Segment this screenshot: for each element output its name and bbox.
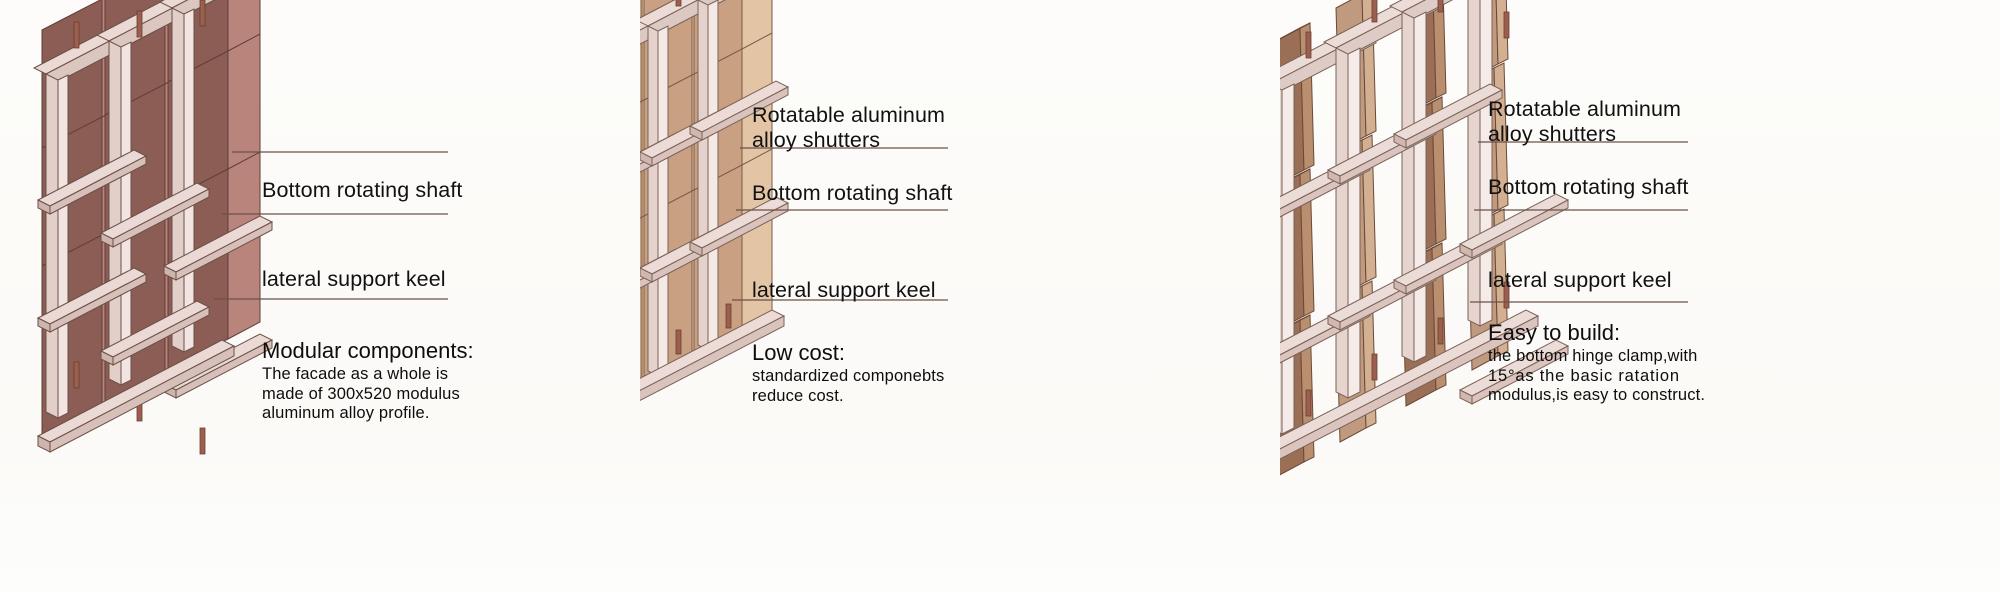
caption-line-3: aluminum alloy profile. — [262, 404, 474, 424]
callout-rotatable-aluminum-alloy-shutters: Rotatable aluminum alloy shutters — [752, 103, 945, 153]
callout-lateral-support-keel: lateral support keel — [262, 267, 446, 292]
facade-shutter-diagram: Bottom rotating shaft lateral support ke… — [0, 0, 2000, 592]
caption-line-3: modulus,is easy to construct. — [1488, 386, 1705, 406]
caption-line-1: the bottom hinge clamp,with — [1488, 347, 1705, 367]
panel-modular-components: Bottom rotating shaft lateral support ke… — [0, 0, 640, 592]
caption-title: Easy to build: — [1488, 320, 1705, 346]
caption-modular-components: Modular components: The facade as a whol… — [262, 338, 474, 424]
caption-line-2: 15°as the basic ratation — [1488, 367, 1705, 387]
callout-bottom-rotating-shaft: Bottom rotating shaft — [1488, 175, 1688, 200]
isometric-facade-closed-shutters — [0, 0, 640, 592]
caption-line-1: The facade as a whole is — [262, 365, 474, 385]
panel-low-cost: Rotatable aluminum alloy shutters Bottom… — [640, 0, 1280, 592]
caption-easy-to-build: Easy to build: the bottom hinge clamp,wi… — [1488, 320, 1705, 406]
isometric-facade-closed-shutters-tan — [640, 0, 1280, 592]
panel-easy-to-build: Rotatable aluminum alloy shutters Bottom… — [1280, 0, 2000, 592]
isometric-facade-rotated-shutters — [1280, 0, 2000, 592]
callout-rotatable-aluminum-alloy-shutters: Rotatable aluminum alloy shutters — [1488, 97, 1681, 147]
callout-lateral-support-keel: lateral support keel — [752, 278, 936, 303]
callout-bottom-rotating-shaft: Bottom rotating shaft — [262, 178, 462, 203]
callout-bottom-rotating-shaft: Bottom rotating shaft — [752, 181, 952, 206]
caption-low-cost: Low cost: standardized componebts reduce… — [752, 340, 944, 406]
caption-line-2: reduce cost. — [752, 387, 944, 407]
caption-title: Low cost: — [752, 340, 944, 366]
caption-line-2: made of 300x520 modulus — [262, 385, 474, 405]
caption-line-1: standardized componebts — [752, 367, 944, 387]
caption-title: Modular components: — [262, 338, 474, 364]
callout-lateral-support-keel: lateral support keel — [1488, 268, 1672, 293]
